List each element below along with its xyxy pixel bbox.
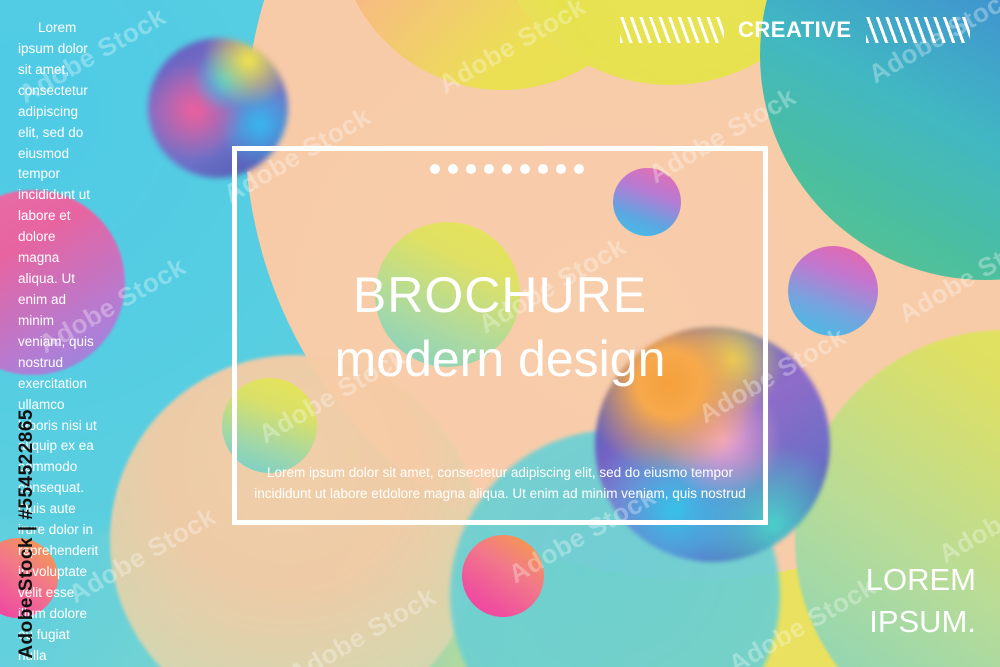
frame-paragraph: Lorem ipsum dolor sit amet, consectetur … <box>240 463 760 505</box>
creative-bar: CREATIVE <box>620 17 970 43</box>
dots-row <box>430 164 584 174</box>
bottom-right-wordmark: LOREM IPSUM. <box>866 559 976 643</box>
dot <box>538 164 548 174</box>
dot <box>430 164 440 174</box>
dot <box>502 164 512 174</box>
brochure-poster: BROCHURE modern design Lorem ipsum dolor… <box>0 0 1000 667</box>
dot <box>484 164 494 174</box>
dot <box>448 164 458 174</box>
dot <box>556 164 566 174</box>
bottom-right-line-1: LOREM <box>866 559 976 601</box>
dot <box>466 164 476 174</box>
hatch-stripes-left-icon <box>620 17 724 43</box>
dot <box>520 164 530 174</box>
headline-line-1: BROCHURE <box>232 270 768 320</box>
headline-block: BROCHURE modern design <box>232 270 768 384</box>
bottom-right-line-2: IPSUM. <box>866 601 976 643</box>
sphere-pink-orange-bottom <box>462 535 544 617</box>
creative-label: CREATIVE <box>738 17 852 43</box>
left-lorem-column: Lorem ipsum dolor sit amet, consectetur … <box>18 18 98 667</box>
hatch-stripes-right-icon <box>866 17 970 43</box>
dot <box>574 164 584 174</box>
sphere-pink-blue-right <box>788 246 878 336</box>
headline-line-2: modern design <box>232 334 768 384</box>
